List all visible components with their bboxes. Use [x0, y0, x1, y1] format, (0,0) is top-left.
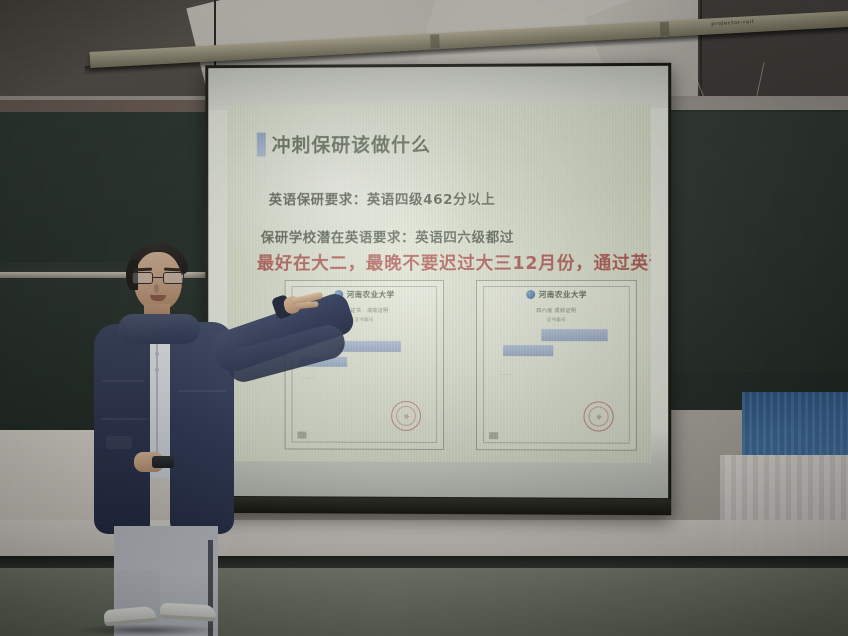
- presenter: [78, 240, 338, 636]
- certificate-right-header: 河南农业大学: [477, 289, 636, 300]
- nose: [154, 284, 159, 293]
- slide-body-line-1: 英语保研要求：英语四级462分以上: [269, 188, 496, 208]
- certificate-left-university: 河南农业大学: [347, 289, 395, 300]
- trouser-side-stripe: [208, 540, 213, 636]
- official-seal-icon: [391, 401, 421, 431]
- jacket-seam: [102, 418, 146, 420]
- sneaker-right: [160, 603, 217, 622]
- rail-bracket-b: [430, 34, 440, 48]
- certificate-right-university: 河南农业大学: [539, 289, 587, 300]
- presentation-clicker: [152, 456, 174, 468]
- slide-title: 冲刺保研该做什么: [272, 130, 431, 157]
- shirt-button: [155, 352, 159, 356]
- glasses-icon: [132, 272, 184, 284]
- lens-left: [132, 272, 153, 284]
- certificate-right-caption: 证书编号: [477, 317, 636, 323]
- rail-bracket-a: [660, 22, 670, 36]
- redaction-block: [339, 341, 401, 352]
- redaction-block: [503, 345, 553, 356]
- slide-title-row: 冲刺保研该做什么: [257, 130, 431, 158]
- certificate-image-right: 河南农业大学 四六级 成绩证明 证书编号 ········: [476, 280, 637, 451]
- jacket-pocket: [106, 436, 132, 449]
- glasses-bridge: [153, 277, 163, 278]
- classroom-photo: projector-rail 冲刺保研该做什么 英语保研要求：英语四级462分以…: [0, 0, 848, 636]
- presenter-shadow: [70, 624, 220, 636]
- lens-right: [163, 272, 184, 284]
- official-seal-icon: [583, 401, 613, 431]
- middle-finger: [294, 301, 318, 309]
- rail-label: projector-rail: [711, 19, 754, 27]
- title-accent-bar: [257, 132, 266, 156]
- jacket-seam: [102, 380, 144, 382]
- jacket-seam: [178, 390, 226, 392]
- redaction-block: [541, 329, 607, 341]
- jacket-collar: [118, 314, 200, 344]
- shirt-button: [155, 368, 159, 372]
- certificate-right-footer-mark: [489, 432, 498, 439]
- certificate-right-faint-text: ········: [499, 373, 513, 378]
- certificate-right-subtitle: 四六级 成绩证明: [477, 307, 636, 314]
- university-logo-icon: [526, 290, 535, 299]
- jacket-left-panel: [94, 324, 150, 534]
